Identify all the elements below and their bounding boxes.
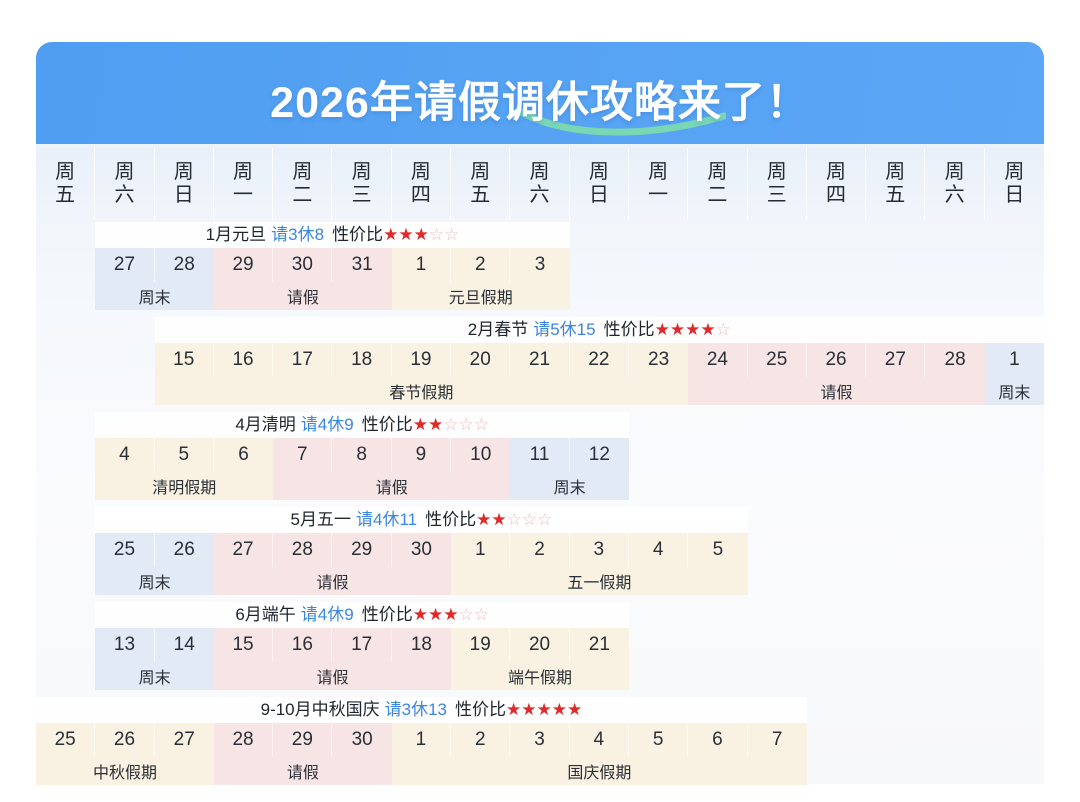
weekday-suffix: 日	[589, 184, 609, 207]
segment-day-numbers: 27282930	[214, 533, 451, 567]
segment-label: 清明假期	[95, 472, 273, 500]
day-segment-holiday[interactable]: 1234567国庆假期	[392, 723, 807, 785]
day-cell[interactable]: 22	[570, 343, 629, 377]
segment-day-numbers: 1	[985, 343, 1044, 377]
day-cell[interactable]: 28	[925, 343, 984, 377]
weekday-prefix: 周	[826, 161, 846, 184]
segment-day-numbers: 282930	[214, 723, 392, 757]
star-empty-icon: ☆	[537, 510, 552, 529]
day-cell[interactable]: 5	[688, 533, 747, 567]
weekday-suffix: 四	[826, 184, 846, 207]
day-cell[interactable]: 30	[392, 533, 451, 567]
weekday-prefix: 周	[589, 161, 609, 184]
weekday-header-row: 周五周六周日周一周二周三周四周五周六周日周一周二周三周四周五周六周日	[36, 148, 1044, 220]
day-cell[interactable]: 9	[392, 438, 451, 472]
weekday-suffix: 六	[530, 184, 550, 207]
weekday-prefix: 周	[292, 161, 312, 184]
rating-stars: ★★★☆☆	[413, 605, 489, 624]
segment-label: 请假	[688, 377, 985, 405]
weekday-prefix: 周	[885, 161, 905, 184]
weekday-prefix: 周	[1004, 161, 1024, 184]
month-days-row: 1314周末15161718请假192021端午假期	[95, 628, 629, 690]
day-cell[interactable]: 27	[155, 723, 214, 757]
day-segment-weekend[interactable]: 2526周末	[95, 533, 214, 595]
day-segment-weekend[interactable]: 1周末	[985, 343, 1044, 405]
star-filled-icon: ★	[685, 320, 700, 339]
segment-label: 请假	[214, 757, 392, 785]
month-name: 6月端午	[235, 605, 295, 624]
day-segment-holiday[interactable]: 123元旦假期	[392, 248, 570, 310]
day-cell[interactable]: 4	[95, 438, 154, 472]
day-cell[interactable]: 6	[214, 438, 273, 472]
weekday-prefix: 周	[114, 161, 134, 184]
weekday-prefix: 周	[530, 161, 550, 184]
weekday-header-cell: 周六	[925, 148, 984, 220]
star-filled-icon: ★	[552, 700, 567, 719]
star-empty-icon: ☆	[458, 415, 473, 434]
weekday-suffix: 三	[767, 184, 787, 207]
day-cell[interactable]: 13	[95, 628, 154, 662]
segment-day-numbers: 1234567	[392, 723, 807, 757]
segment-day-numbers: 151617181920212223	[155, 343, 689, 377]
day-cell[interactable]: 16	[214, 343, 273, 377]
month-summary-label: 4月清明请4休9性价比★★☆☆☆	[95, 412, 629, 438]
weekday-prefix: 周	[767, 161, 787, 184]
day-cell[interactable]: 29	[214, 248, 273, 282]
month-block: 5月五一请4休11性价比★★☆☆☆2526周末27282930请假12345五一…	[95, 507, 747, 595]
weekday-suffix: 二	[707, 184, 727, 207]
day-cell[interactable]: 1	[985, 343, 1044, 377]
calendar-page: 2026年请假调休攻略来了！ 周五周六周日周一周二周三周四周五周六周日周一周二周…	[0, 0, 1080, 802]
segment-label: 请假	[214, 567, 451, 595]
leave-plan: 请3休13	[385, 700, 447, 719]
weekday-prefix: 周	[470, 161, 490, 184]
star-filled-icon: ★	[476, 510, 491, 529]
day-cell[interactable]: 10	[451, 438, 510, 472]
segment-day-numbers: 123	[392, 248, 570, 282]
day-segment-holiday[interactable]: 151617181920212223春节假期	[155, 343, 689, 405]
star-empty-icon: ☆	[429, 225, 444, 244]
star-empty-icon: ☆	[474, 605, 489, 624]
weekday-prefix: 周	[707, 161, 727, 184]
day-segment-weekend[interactable]: 1112周末	[510, 438, 629, 500]
month-summary-label: 2月春节请5休15性价比★★★★☆	[155, 317, 1045, 343]
weekday-header-cell: 周六	[95, 148, 154, 220]
month-name: 5月五一	[291, 510, 351, 529]
day-cell[interactable]: 21	[570, 628, 629, 662]
day-cell[interactable]: 5	[155, 438, 214, 472]
rating-label: 性价比	[362, 605, 413, 624]
star-empty-icon: ☆	[444, 225, 459, 244]
day-cell[interactable]: 26	[155, 533, 214, 567]
month-days-row: 151617181920212223春节假期2425262728请假1周末	[155, 343, 1045, 405]
segment-day-numbers: 2728	[95, 248, 214, 282]
month-summary-label: 9-10月中秋国庆请3休13性价比★★★★★	[36, 697, 807, 723]
day-cell[interactable]: 17	[332, 628, 391, 662]
month-block: 4月清明请4休9性价比★★☆☆☆456清明假期78910请假1112周末	[95, 412, 629, 500]
day-cell[interactable]: 27	[214, 533, 273, 567]
weekday-prefix: 周	[411, 161, 431, 184]
day-cell[interactable]: 28	[155, 248, 214, 282]
weekday-suffix: 一	[233, 184, 253, 207]
segment-day-numbers: 2425262728	[688, 343, 985, 377]
month-block: 2月春节请5休15性价比★★★★☆151617181920212223春节假期2…	[155, 317, 1045, 405]
day-cell[interactable]: 4	[629, 533, 688, 567]
month-days-row: 456清明假期78910请假1112周末	[95, 438, 629, 500]
day-cell[interactable]: 29	[332, 533, 391, 567]
month-summary-label: 1月元旦请3休8性价比★★★☆☆	[95, 222, 569, 248]
rating-label: 性价比	[604, 320, 655, 339]
day-cell[interactable]: 21	[510, 343, 569, 377]
month-name: 9-10月中秋国庆	[261, 700, 380, 719]
day-cell[interactable]: 8	[332, 438, 391, 472]
month-block: 1月元旦请3休8性价比★★★☆☆2728周末293031请假123元旦假期	[95, 222, 569, 310]
star-filled-icon: ★	[383, 225, 398, 244]
weekday-header-cell: 周三	[332, 148, 391, 220]
star-empty-icon: ☆	[474, 415, 489, 434]
star-filled-icon: ★	[398, 225, 413, 244]
day-segment-holiday[interactable]: 12345五一假期	[451, 533, 748, 595]
day-segment-weekend[interactable]: 2728周末	[95, 248, 214, 310]
segment-day-numbers: 78910	[273, 438, 510, 472]
segment-label: 周末	[95, 567, 214, 595]
weekday-suffix: 三	[352, 184, 372, 207]
day-cell[interactable]: 31	[332, 248, 391, 282]
day-cell[interactable]: 15	[214, 628, 273, 662]
weekday-header-cell: 周四	[392, 148, 451, 220]
rating-stars: ★★☆☆☆	[476, 510, 552, 529]
day-cell[interactable]: 2	[451, 248, 510, 282]
day-cell[interactable]: 27	[95, 248, 154, 282]
segment-label: 春节假期	[155, 377, 689, 405]
star-filled-icon: ★	[414, 225, 429, 244]
weekday-header-cell: 周二	[688, 148, 747, 220]
star-empty-icon: ☆	[507, 510, 522, 529]
weekday-header-cell: 周五	[451, 148, 510, 220]
day-segment-weekend[interactable]: 1314周末	[95, 628, 214, 690]
segment-label: 周末	[95, 282, 214, 310]
day-cell[interactable]: 23	[629, 343, 688, 377]
segment-label: 中秋假期	[36, 757, 214, 785]
star-filled-icon: ★	[567, 700, 582, 719]
month-name: 4月清明	[235, 415, 295, 434]
segment-day-numbers: 192021	[451, 628, 629, 662]
day-segment-leave[interactable]: 282930请假	[214, 723, 392, 785]
star-empty-icon: ☆	[443, 415, 458, 434]
rating-stars: ★★☆☆☆	[413, 415, 489, 434]
month-days-row: 2728周末293031请假123元旦假期	[95, 248, 569, 310]
leave-plan: 请4休9	[301, 605, 354, 624]
star-filled-icon: ★	[670, 320, 685, 339]
page-title: 2026年请假调休攻略来了！	[36, 68, 1044, 130]
star-empty-icon: ☆	[522, 510, 537, 529]
weekday-header-cell: 周日	[155, 148, 214, 220]
day-cell[interactable]: 14	[155, 628, 214, 662]
leave-plan: 请5休15	[533, 320, 595, 339]
day-cell[interactable]: 18	[392, 628, 451, 662]
segment-day-numbers: 252627	[36, 723, 214, 757]
weekday-suffix: 五	[55, 184, 75, 207]
day-cell[interactable]: 7	[748, 723, 807, 757]
rating-stars: ★★★★☆	[655, 320, 731, 339]
rating-label: 性价比	[362, 415, 413, 434]
day-cell[interactable]: 19	[451, 628, 510, 662]
day-cell[interactable]: 11	[510, 438, 569, 472]
star-filled-icon: ★	[521, 700, 536, 719]
month-days-row: 2526周末27282930请假12345五一假期	[95, 533, 747, 595]
segment-day-numbers: 12345	[451, 533, 748, 567]
weekday-prefix: 周	[55, 161, 75, 184]
segment-day-numbers: 293031	[214, 248, 392, 282]
month-name: 1月元旦	[206, 225, 266, 244]
day-segment-leave[interactable]: 27282930请假	[214, 533, 451, 595]
day-cell[interactable]: 28	[273, 533, 332, 567]
day-cell[interactable]: 28	[214, 723, 273, 757]
rating-stars: ★★★☆☆	[383, 225, 459, 244]
day-cell[interactable]: 1	[392, 723, 451, 757]
month-summary-label: 5月五一请4休11性价比★★☆☆☆	[95, 507, 747, 533]
weekday-header-cell: 周六	[510, 148, 569, 220]
star-empty-icon: ☆	[458, 605, 473, 624]
day-cell[interactable]: 7	[273, 438, 332, 472]
day-cell[interactable]: 2	[451, 723, 510, 757]
day-cell[interactable]: 1	[451, 533, 510, 567]
rating-label: 性价比	[455, 700, 506, 719]
day-cell[interactable]: 20	[510, 628, 569, 662]
day-segment-holiday[interactable]: 252627中秋假期	[36, 723, 214, 785]
segment-label: 请假	[273, 472, 510, 500]
rating-label: 性价比	[425, 510, 476, 529]
weekday-suffix: 日	[1004, 184, 1024, 207]
day-cell[interactable]: 3	[510, 723, 569, 757]
weekday-prefix: 周	[233, 161, 253, 184]
weekday-prefix: 周	[352, 161, 372, 184]
segment-label: 五一假期	[451, 567, 748, 595]
month-block: 6月端午请4休9性价比★★★☆☆1314周末15161718请假192021端午…	[95, 602, 629, 690]
day-cell[interactable]: 12	[570, 438, 629, 472]
month-block: 9-10月中秋国庆请3休13性价比★★★★★252627中秋假期282930请假…	[36, 697, 807, 785]
weekday-suffix: 四	[411, 184, 431, 207]
day-cell[interactable]: 24	[688, 343, 747, 377]
weekday-header-cell: 周日	[985, 148, 1044, 220]
weekday-header-cell: 周二	[273, 148, 332, 220]
day-cell[interactable]: 25	[95, 533, 154, 567]
segment-label: 请假	[214, 662, 451, 690]
star-filled-icon: ★	[413, 605, 428, 624]
day-cell[interactable]: 25	[36, 723, 95, 757]
weekday-prefix: 周	[945, 161, 965, 184]
day-cell[interactable]: 27	[866, 343, 925, 377]
day-cell[interactable]: 18	[332, 343, 391, 377]
star-filled-icon: ★	[655, 320, 670, 339]
star-filled-icon: ★	[428, 415, 443, 434]
month-days-row: 252627中秋假期282930请假1234567国庆假期	[36, 723, 807, 785]
day-cell[interactable]: 30	[273, 248, 332, 282]
day-cell[interactable]: 26	[807, 343, 866, 377]
month-name: 2月春节	[468, 320, 528, 339]
weekday-suffix: 六	[114, 184, 134, 207]
day-cell[interactable]: 6	[688, 723, 747, 757]
segment-label: 元旦假期	[392, 282, 570, 310]
day-cell[interactable]: 30	[332, 723, 391, 757]
weekday-suffix: 六	[945, 184, 965, 207]
segment-label: 请假	[214, 282, 392, 310]
day-cell[interactable]: 29	[273, 723, 332, 757]
weekday-suffix: 五	[470, 184, 490, 207]
day-cell[interactable]: 2	[510, 533, 569, 567]
day-cell[interactable]: 26	[95, 723, 154, 757]
day-segment-holiday[interactable]: 192021端午假期	[451, 628, 629, 690]
day-cell[interactable]: 15	[155, 343, 214, 377]
leave-plan: 请4休11	[356, 510, 417, 529]
day-cell[interactable]: 19	[392, 343, 451, 377]
day-cell[interactable]: 25	[748, 343, 807, 377]
segment-day-numbers: 1112	[510, 438, 629, 472]
star-filled-icon: ★	[443, 605, 458, 624]
day-cell[interactable]: 4	[570, 723, 629, 757]
weekday-header-cell: 周五	[36, 148, 95, 220]
segment-day-numbers: 15161718	[214, 628, 451, 662]
segment-day-numbers: 1314	[95, 628, 214, 662]
day-cell[interactable]: 1	[392, 248, 451, 282]
star-filled-icon: ★	[700, 320, 715, 339]
weekday-suffix: 二	[292, 184, 312, 207]
segment-day-numbers: 456	[95, 438, 273, 472]
title-banner: 2026年请假调休攻略来了！	[36, 42, 1044, 144]
star-filled-icon: ★	[491, 510, 506, 529]
weekday-header-cell: 周日	[570, 148, 629, 220]
day-segment-leave[interactable]: 78910请假	[273, 438, 510, 500]
leave-plan: 请4休9	[301, 415, 354, 434]
segment-label: 周末	[985, 377, 1044, 405]
segment-label: 周末	[510, 472, 629, 500]
day-cell[interactable]: 20	[451, 343, 510, 377]
rating-label: 性价比	[332, 225, 383, 244]
day-cell[interactable]: 3	[570, 533, 629, 567]
day-cell[interactable]: 5	[629, 723, 688, 757]
weekday-header-cell: 周四	[807, 148, 866, 220]
weekday-header-cell: 周五	[866, 148, 925, 220]
leave-plan: 请3休8	[271, 225, 324, 244]
star-filled-icon: ★	[537, 700, 552, 719]
day-segment-leave[interactable]: 293031请假	[214, 248, 392, 310]
segment-label: 端午假期	[451, 662, 629, 690]
segment-label: 国庆假期	[392, 757, 807, 785]
weekday-suffix: 日	[174, 184, 194, 207]
rating-stars: ★★★★★	[506, 700, 582, 719]
weekday-suffix: 五	[885, 184, 905, 207]
weekday-header-cell: 周三	[748, 148, 807, 220]
day-cell[interactable]: 17	[273, 343, 332, 377]
month-summary-label: 6月端午请4休9性价比★★★☆☆	[95, 602, 629, 628]
weekday-prefix: 周	[174, 161, 194, 184]
weekday-header-cell: 周一	[214, 148, 273, 220]
weekday-prefix: 周	[648, 161, 668, 184]
day-segment-leave[interactable]: 2425262728请假	[688, 343, 985, 405]
day-cell[interactable]: 3	[510, 248, 569, 282]
day-segment-leave[interactable]: 15161718请假	[214, 628, 451, 690]
star-filled-icon: ★	[506, 700, 521, 719]
segment-label: 周末	[95, 662, 214, 690]
weekday-header-cell: 周一	[629, 148, 688, 220]
star-filled-icon: ★	[428, 605, 443, 624]
star-filled-icon: ★	[413, 415, 428, 434]
segment-day-numbers: 2526	[95, 533, 214, 567]
star-empty-icon: ☆	[716, 320, 731, 339]
day-segment-holiday[interactable]: 456清明假期	[95, 438, 273, 500]
day-cell[interactable]: 16	[273, 628, 332, 662]
weekday-suffix: 一	[648, 184, 668, 207]
